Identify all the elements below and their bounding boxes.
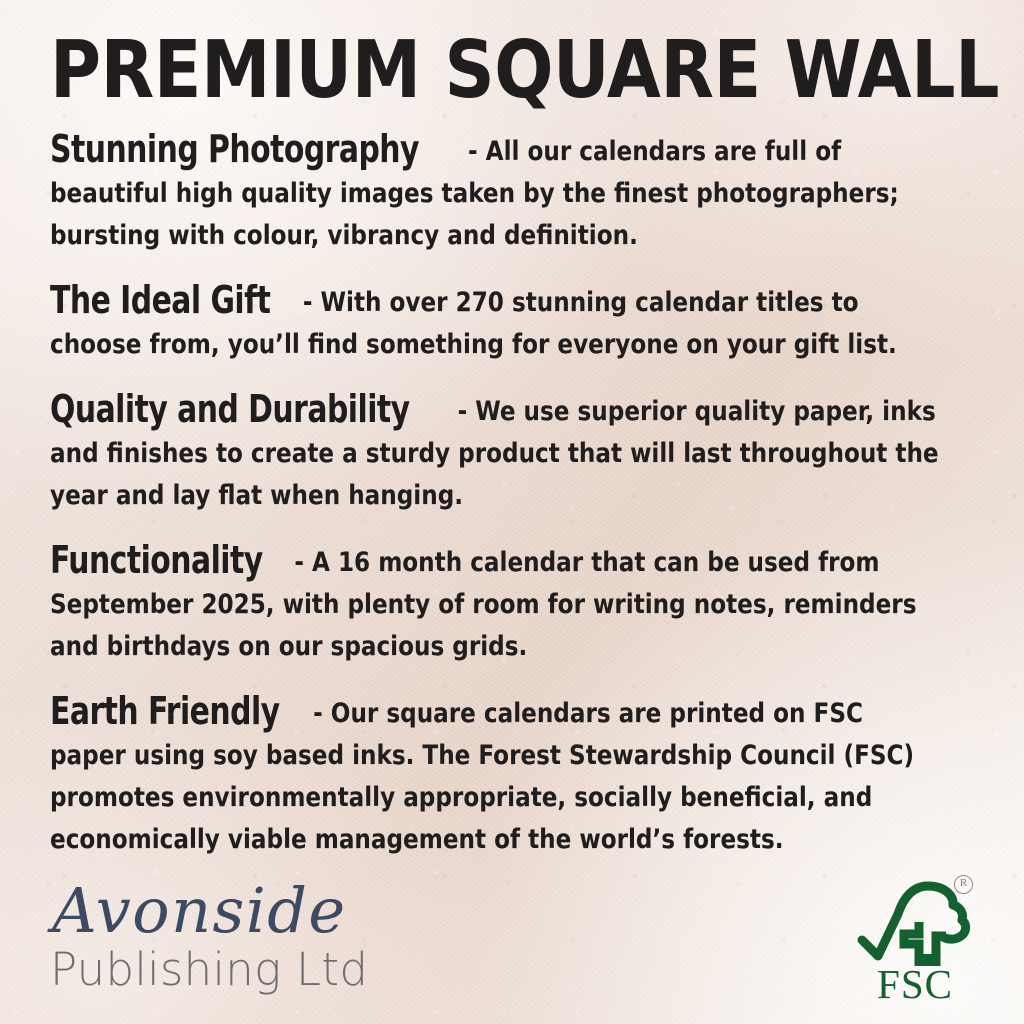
feature-item-stunning-photography: Stunning Photography - All our calendars… xyxy=(50,128,946,257)
fsc-wordmark: FSC xyxy=(856,964,974,1005)
feature-item-functionality: Functionality - A 16 month calendar that… xyxy=(50,539,946,668)
registered-trademark-icon: R xyxy=(954,875,973,894)
poster-canvas: PREMIUM SQUARE WALL CALENDARS Stunning P… xyxy=(0,0,1024,1024)
feature-list: Stunning Photography - All our calendars… xyxy=(50,128,974,861)
feature-heading: Earth Friendly xyxy=(50,690,280,732)
feature-item-quality-and-durability: Quality and Durability - We use superior… xyxy=(50,388,946,517)
feature-separator: - xyxy=(294,547,304,578)
feature-heading: Quality and Durability xyxy=(50,388,410,430)
brand-name: Avonside xyxy=(52,879,368,942)
feature-separator: - xyxy=(303,287,313,318)
feature-heading: The Ideal Gift xyxy=(50,279,270,321)
brand-logo: Avonside Publishing Ltd xyxy=(50,879,368,996)
poster-content: PREMIUM SQUARE WALL CALENDARS Stunning P… xyxy=(0,0,1024,1024)
feature-space xyxy=(304,547,312,578)
feature-dash xyxy=(460,136,468,167)
poster-footer: Avonside Publishing Ltd R FSC xyxy=(50,874,974,996)
brand-subtitle: Publishing Ltd xyxy=(50,944,368,996)
feature-item-the-ideal-gift: The Ideal Gift - With over 270 stunning … xyxy=(50,279,946,366)
fsc-certification-logo: R FSC xyxy=(856,874,974,996)
feature-space xyxy=(286,547,294,578)
page-title: PREMIUM SQUARE WALL CALENDARS xyxy=(50,0,956,108)
feature-separator: - xyxy=(458,396,468,427)
feature-separator: - xyxy=(468,136,478,167)
feature-item-earth-friendly: Earth Friendly - Our square calendars ar… xyxy=(50,690,946,861)
feature-space xyxy=(312,287,320,318)
feature-separator: - xyxy=(313,698,323,729)
feature-heading: Functionality xyxy=(50,539,263,581)
feature-space xyxy=(478,136,486,167)
feature-space xyxy=(295,287,303,318)
feature-heading: Stunning Photography xyxy=(50,128,419,170)
feature-space xyxy=(450,396,458,427)
